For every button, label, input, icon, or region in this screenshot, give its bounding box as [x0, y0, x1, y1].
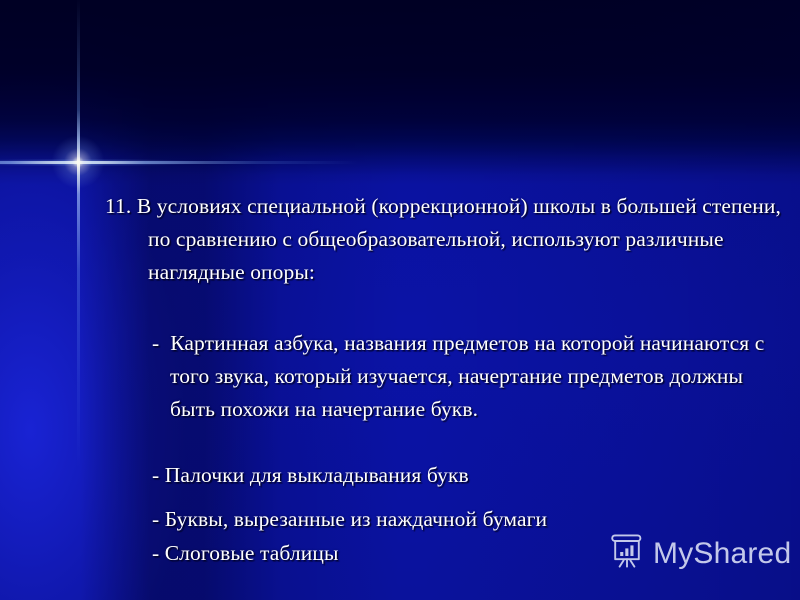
slide-bullet-picture-alphabet: - Картинная азбука, названия предметов н… — [152, 327, 770, 426]
slide-bullet-sandpaper-letters: - Буквы, вырезанные из наждачной бумаги — [152, 503, 770, 536]
myshared-brand-label: MyShared — [653, 539, 791, 569]
presentation-slide: 11. В условиях специальной (коррекционно… — [0, 0, 800, 600]
slide-bullet-sticks: - Палочки для выкладывания букв — [152, 459, 770, 492]
slide-text-body: 11. В условиях специальной (коррекционно… — [0, 0, 800, 600]
flipchart-bar-chart-icon — [610, 533, 644, 574]
myshared-watermark: MyShared — [610, 533, 791, 574]
slide-paragraph-numbered: 11. В условиях специальной (коррекционно… — [105, 190, 793, 289]
